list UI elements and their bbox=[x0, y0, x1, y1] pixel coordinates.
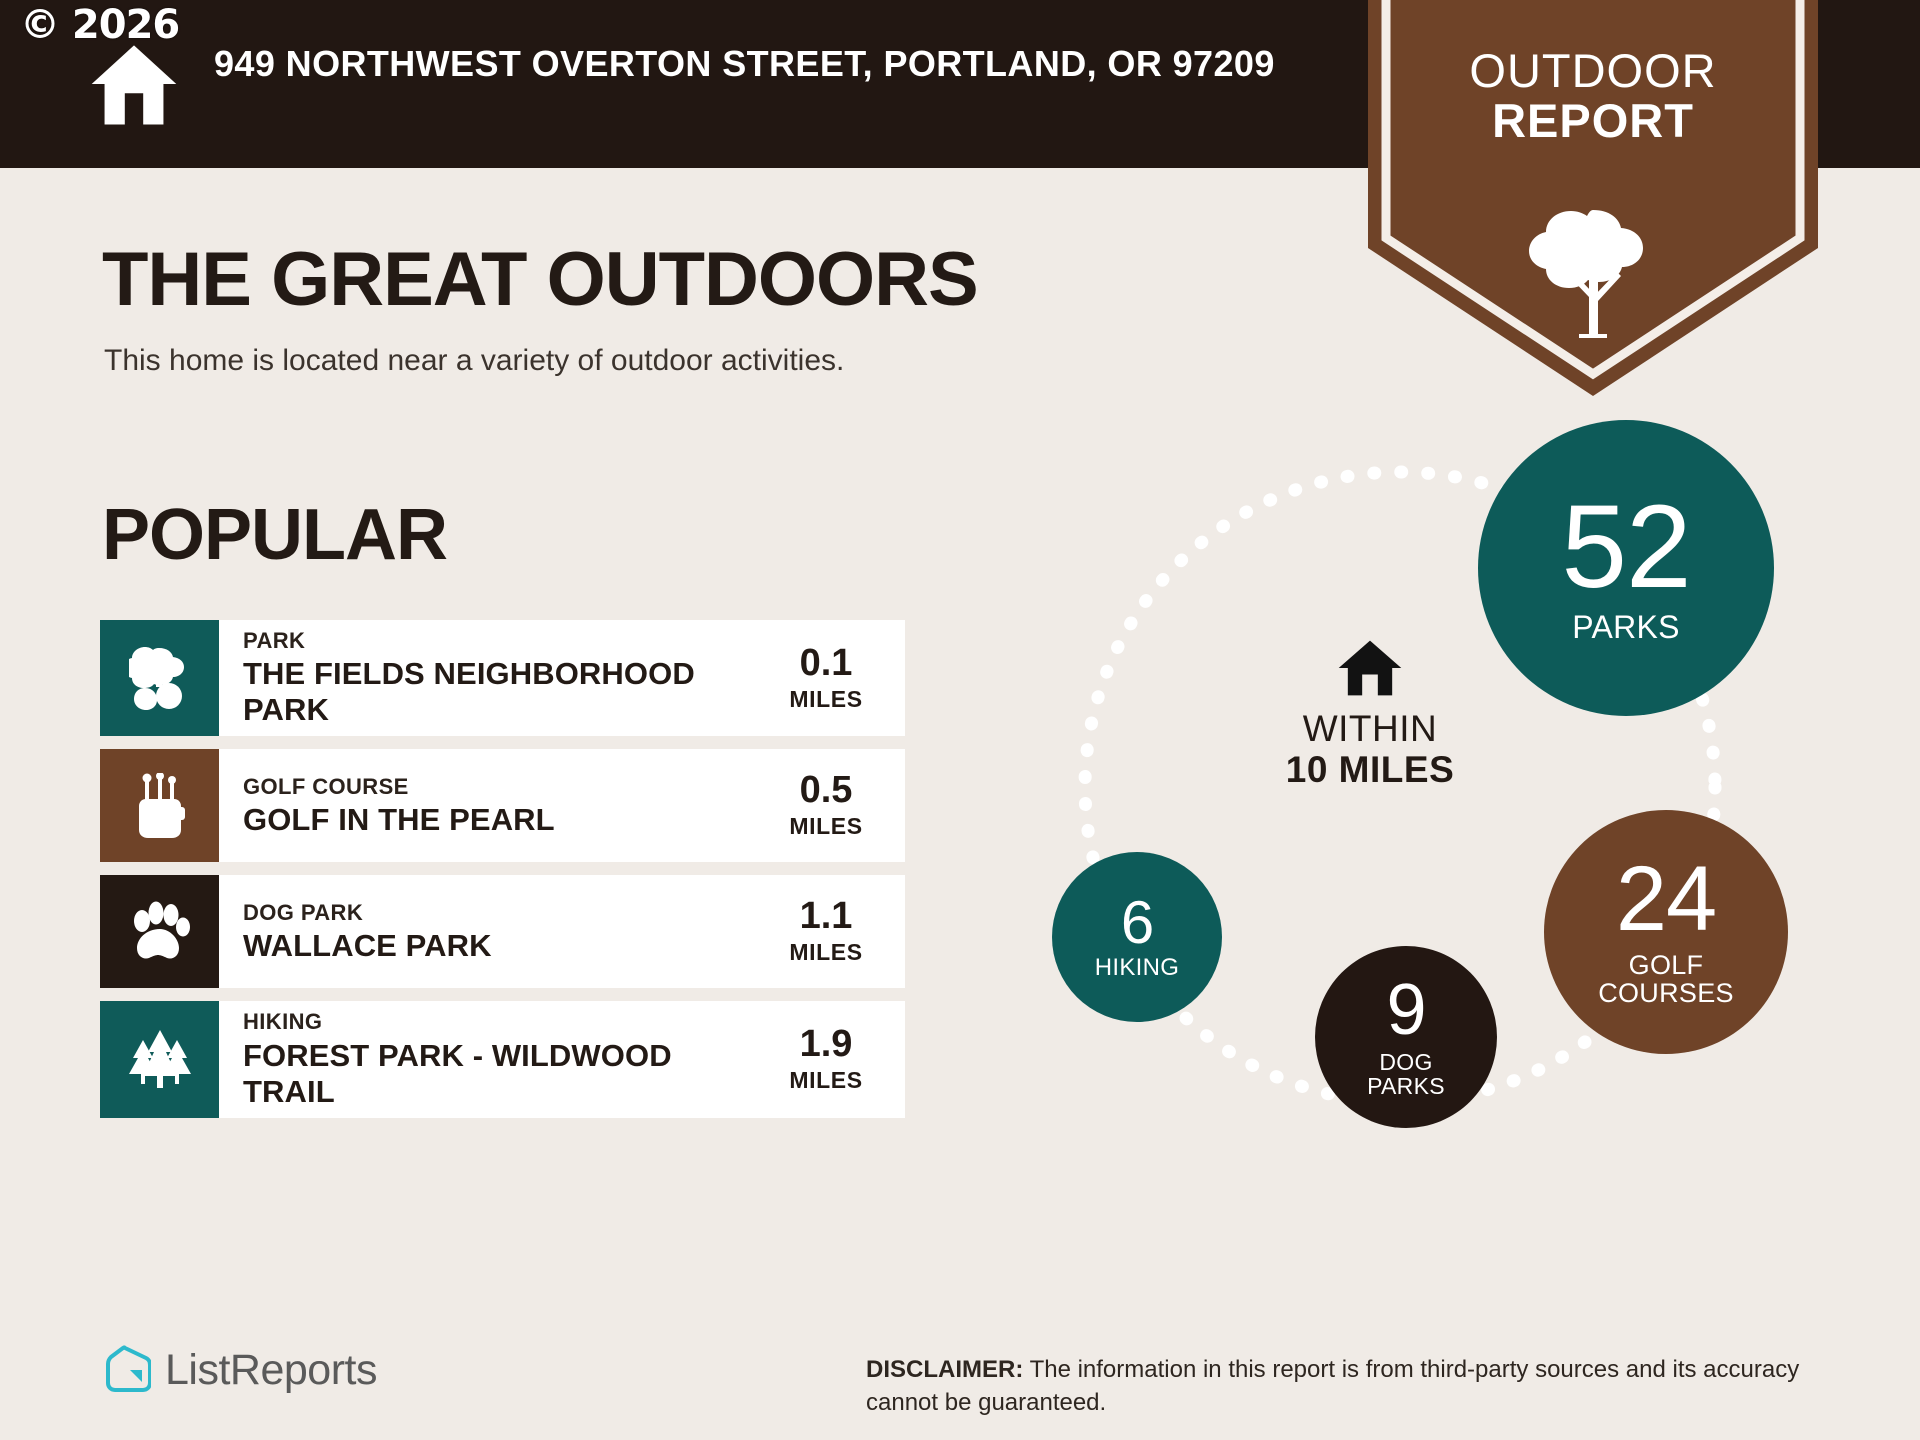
stat-label-line-1: DOG bbox=[1367, 1050, 1445, 1074]
list-item-text: HIKING FOREST PARK - WILDWOOD TRAIL bbox=[219, 1001, 761, 1117]
house-icon bbox=[1245, 638, 1495, 698]
list-item-category: HIKING bbox=[243, 1009, 751, 1035]
popular-list: PARK THE FIELDS NEIGHBORHOOD PARK 0.1 MI… bbox=[100, 620, 905, 1131]
page-title: THE GREAT OUTDOORS bbox=[102, 236, 978, 323]
list-item-distance: 0.1 MILES bbox=[761, 620, 905, 736]
badge-label: OUTDOOR REPORT bbox=[1368, 46, 1818, 147]
list-item-category: DOG PARK bbox=[243, 900, 751, 926]
stat-label: DOG PARKS bbox=[1367, 1050, 1445, 1098]
stat-value: 6 bbox=[1121, 894, 1153, 951]
stat-label-line-2: PARKS bbox=[1367, 1074, 1445, 1098]
list-item-name: WALLACE PARK bbox=[243, 928, 751, 964]
stat-bubble-parks: 52 PARKS bbox=[1478, 420, 1774, 716]
list-item-text: GOLF COURSE GOLF IN THE PEARL bbox=[219, 749, 761, 862]
stat-bubble-hiking: 6 HIKING bbox=[1052, 852, 1222, 1022]
section-heading-popular: POPULAR bbox=[102, 494, 447, 576]
within-10-miles-chart: 52 PARKS 24 GOLF COURSES 9 DOG PARKS 6 H… bbox=[990, 420, 1920, 1210]
stat-label: PARKS bbox=[1572, 611, 1680, 645]
stat-value: 9 bbox=[1386, 976, 1425, 1044]
list-item[interactable]: PARK THE FIELDS NEIGHBORHOOD PARK 0.1 MI… bbox=[100, 620, 905, 736]
list-item-text: DOG PARK WALLACE PARK bbox=[219, 875, 761, 988]
distance-value: 0.5 bbox=[800, 771, 853, 809]
golf-bag-icon bbox=[100, 749, 219, 862]
listreports-wordmark: ListReports bbox=[165, 1346, 377, 1395]
stat-label: HIKING bbox=[1095, 955, 1179, 980]
distance-unit: MILES bbox=[789, 686, 862, 713]
stat-label: GOLF COURSES bbox=[1598, 951, 1734, 1008]
pine-trees-icon bbox=[100, 1001, 219, 1117]
stat-value: 24 bbox=[1616, 856, 1716, 943]
list-item[interactable]: HIKING FOREST PARK - WILDWOOD TRAIL 1.9 … bbox=[100, 1001, 905, 1117]
distance-unit: MILES bbox=[789, 1067, 862, 1094]
stat-bubble-golf-courses: 24 GOLF COURSES bbox=[1544, 810, 1788, 1054]
center-line-2: 10 MILES bbox=[1245, 750, 1495, 791]
park-tree-icon bbox=[100, 620, 219, 736]
listreports-logo[interactable]: ListReports bbox=[103, 1345, 377, 1395]
distance-unit: MILES bbox=[789, 813, 862, 840]
page-subtitle: This home is located near a variety of o… bbox=[104, 344, 844, 378]
chart-center-label: WITHIN 10 MILES bbox=[1245, 638, 1495, 791]
list-item[interactable]: DOG PARK WALLACE PARK 1.1 MILES bbox=[100, 875, 905, 988]
list-item-text: PARK THE FIELDS NEIGHBORHOOD PARK bbox=[219, 620, 761, 736]
list-item[interactable]: GOLF COURSE GOLF IN THE PEARL 0.5 MILES bbox=[100, 749, 905, 862]
paw-print-icon bbox=[100, 875, 219, 988]
stat-label-line-1: GOLF bbox=[1598, 951, 1734, 979]
distance-value: 0.1 bbox=[800, 644, 853, 682]
stat-label-line-2: COURSES bbox=[1598, 979, 1734, 1007]
badge-line-2: REPORT bbox=[1368, 96, 1818, 146]
list-item-name: GOLF IN THE PEARL bbox=[243, 802, 751, 838]
center-line-1: WITHIN bbox=[1245, 708, 1495, 750]
stat-bubble-dog-parks: 9 DOG PARKS bbox=[1315, 946, 1497, 1128]
property-address: 949 NORTHWEST OVERTON STREET, PORTLAND, … bbox=[214, 40, 1304, 88]
list-item-category: GOLF COURSE bbox=[243, 774, 751, 800]
stat-value: 52 bbox=[1561, 491, 1690, 603]
house-icon bbox=[88, 38, 180, 130]
list-item-name: THE FIELDS NEIGHBORHOOD PARK bbox=[243, 656, 751, 728]
distance-value: 1.1 bbox=[800, 897, 853, 935]
badge-line-1: OUTDOOR bbox=[1368, 46, 1818, 96]
disclaimer: DISCLAIMER: The information in this repo… bbox=[866, 1353, 1836, 1419]
list-item-name: FOREST PARK - WILDWOOD TRAIL bbox=[243, 1038, 751, 1110]
list-item-distance: 1.1 MILES bbox=[761, 875, 905, 988]
distance-value: 1.9 bbox=[800, 1025, 853, 1063]
listreports-house-icon bbox=[103, 1345, 151, 1395]
distance-unit: MILES bbox=[789, 939, 862, 966]
copyright-watermark: © 2026 bbox=[20, 2, 179, 48]
list-item-distance: 1.9 MILES bbox=[761, 1001, 905, 1117]
outdoor-report-badge: OUTDOOR REPORT bbox=[1368, 0, 1818, 400]
disclaimer-label: DISCLAIMER: bbox=[866, 1356, 1023, 1383]
list-item-category: PARK bbox=[243, 628, 751, 654]
outdoor-report-page: 949 NORTHWEST OVERTON STREET, PORTLAND, … bbox=[0, 0, 1920, 1440]
list-item-distance: 0.5 MILES bbox=[761, 749, 905, 862]
